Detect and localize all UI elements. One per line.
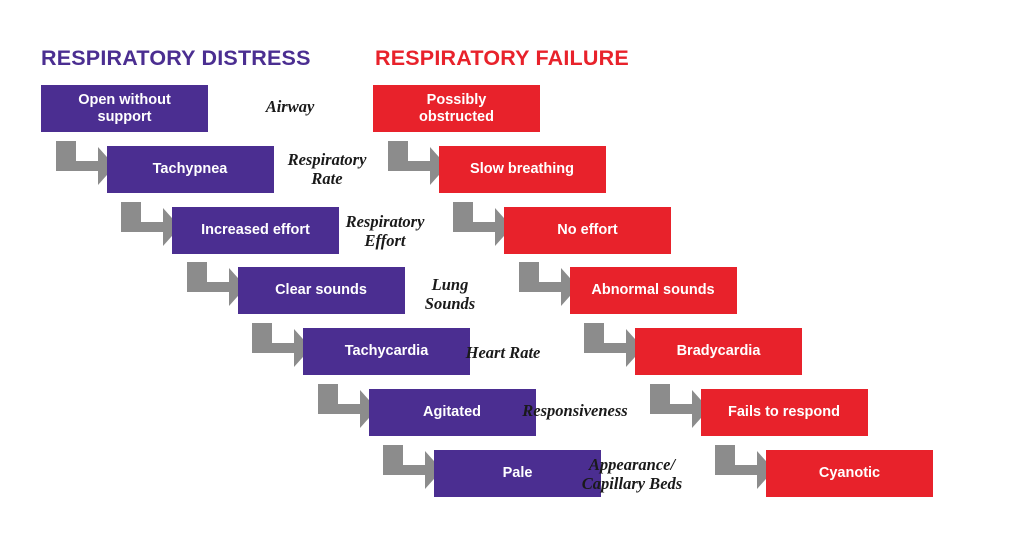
category-label-responsiveness: Responsiveness [522,401,627,420]
column-title-respiratory-distress: RESPIRATORY DISTRESS [41,48,311,70]
category-label-appearance-capillary-beds: Appearance/ Capillary Beds [582,455,682,494]
node-failure-abnormal-sounds[interactable]: Abnormal sounds [570,267,737,314]
node-distress-tachycardia[interactable]: Tachycardia [303,328,470,375]
node-failure-bradycardia[interactable]: Bradycardia [635,328,802,375]
node-failure-fails-to-respond[interactable]: Fails to respond [701,389,868,436]
category-label-heart-rate: Heart Rate [466,343,541,362]
node-distress-clear-sounds[interactable]: Clear sounds [238,267,405,314]
node-failure-possibly-obstructed[interactable]: Possibly obstructed [373,85,540,132]
node-failure-cyanotic[interactable]: Cyanotic [766,450,933,497]
category-label-lung-sounds: Lung Sounds [425,275,475,314]
category-label-airway: Airway [266,97,315,116]
node-distress-increased-effort[interactable]: Increased effort [172,207,339,254]
category-label-respiratory-effort: Respiratory Effort [346,212,425,251]
node-failure-slow-breathing[interactable]: Slow breathing [439,146,606,193]
column-title-respiratory-failure: RESPIRATORY FAILURE [375,48,629,70]
diagram-canvas: RESPIRATORY DISTRESS RESPIRATORY FAILURE… [0,0,1024,539]
node-distress-agitated[interactable]: Agitated [369,389,536,436]
node-distress-pale[interactable]: Pale [434,450,601,497]
node-distress-tachypnea[interactable]: Tachypnea [107,146,274,193]
node-distress-open-without-support[interactable]: Open without support [41,85,208,132]
node-failure-no-effort[interactable]: No effort [504,207,671,254]
category-label-respiratory-rate: Respiratory Rate [288,150,367,189]
